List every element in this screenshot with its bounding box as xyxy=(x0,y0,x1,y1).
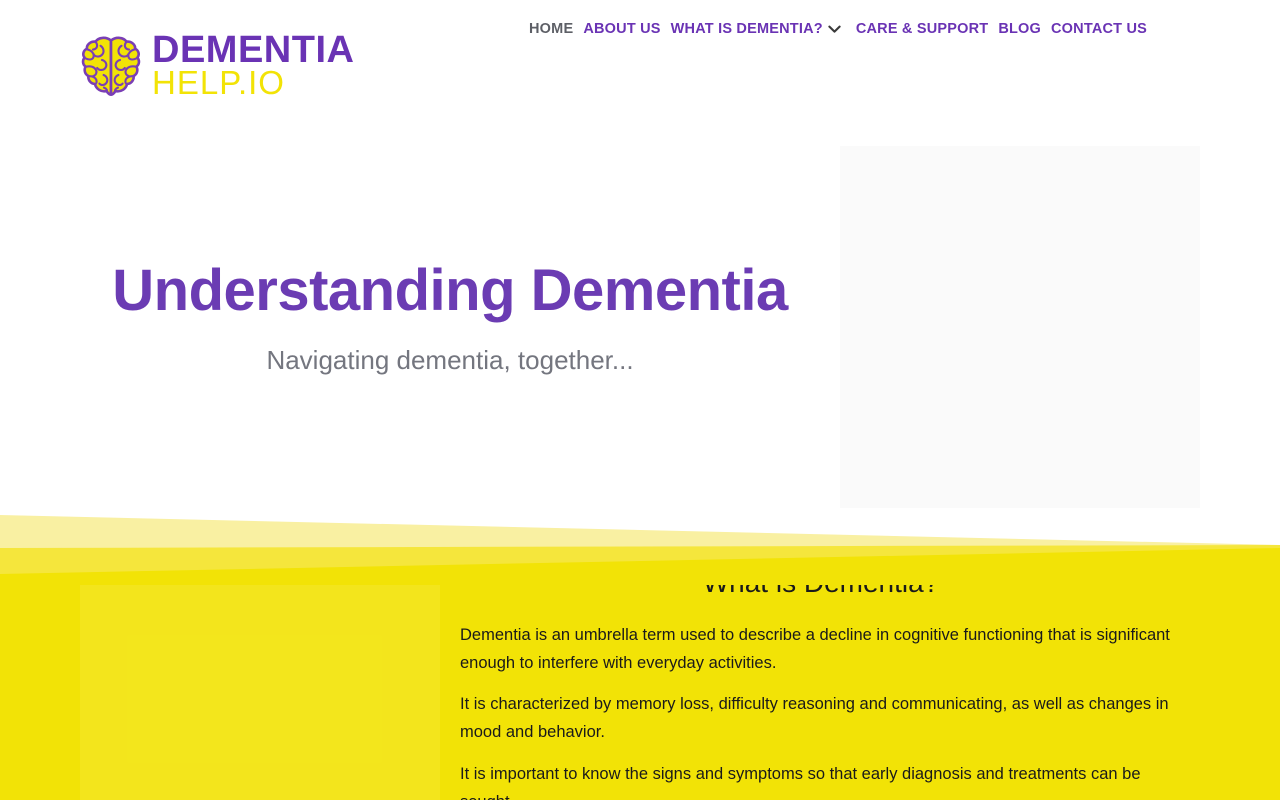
hero-copy: Understanding Dementia Navigating dement… xyxy=(80,140,820,515)
nav-item-label: ABOUT US xyxy=(583,21,660,37)
nav-item-label: CONTACT US xyxy=(1051,21,1147,37)
section-paragraph: It is characterized by memory loss, diff… xyxy=(460,691,1182,746)
nav-item-label: CARE & SUPPORT xyxy=(856,21,989,37)
section-image xyxy=(80,576,440,800)
hero-subtitle: Navigating dementia, together... xyxy=(266,345,633,376)
chevron-down-icon[interactable] xyxy=(828,25,841,34)
section-heading: What is Dementia? xyxy=(460,565,1182,600)
nav-item-care-and-support[interactable]: CARE & SUPPORT xyxy=(851,21,994,37)
nav-item-label: BLOG xyxy=(998,21,1041,37)
nav-item-what-is-dementia[interactable]: WHAT IS DEMENTIA? xyxy=(666,21,851,37)
section-paragraph: It is important to know the signs and sy… xyxy=(460,761,1182,800)
nav-item-blog[interactable]: BLOG xyxy=(993,21,1046,37)
logo-text-secondary: HELP.IO xyxy=(152,68,354,98)
hero-section: Understanding Dementia Navigating dement… xyxy=(0,140,1280,515)
hero-image xyxy=(840,146,1200,508)
nav-item-about-us[interactable]: ABOUT US xyxy=(578,21,665,37)
nav-item-contact-us[interactable]: CONTACT US xyxy=(1046,21,1152,37)
nav-item-label: WHAT IS DEMENTIA? xyxy=(671,21,823,37)
main-navigation: HOME ABOUT US WHAT IS DEMENTIA? CARE & S… xyxy=(524,21,1152,37)
page-title: Understanding Dementia xyxy=(112,259,787,324)
nav-item-home[interactable]: HOME xyxy=(524,21,578,37)
section-paragraph: Dementia is an umbrella term used to des… xyxy=(460,622,1182,677)
logo-wordmark: DEMENTIA HELP.IO xyxy=(152,33,354,98)
site-header: DEMENTIA HELP.IO HOME ABOUT US WHAT IS D… xyxy=(0,0,1280,140)
what-is-dementia-section: What is Dementia? Dementia is an umbrell… xyxy=(0,545,1280,800)
site-logo[interactable]: DEMENTIA HELP.IO xyxy=(80,33,354,99)
section-copy: What is Dementia? Dementia is an umbrell… xyxy=(460,565,1182,800)
nav-item-label: HOME xyxy=(529,21,573,37)
brain-icon xyxy=(80,33,142,99)
logo-text-primary: DEMENTIA xyxy=(152,33,354,68)
